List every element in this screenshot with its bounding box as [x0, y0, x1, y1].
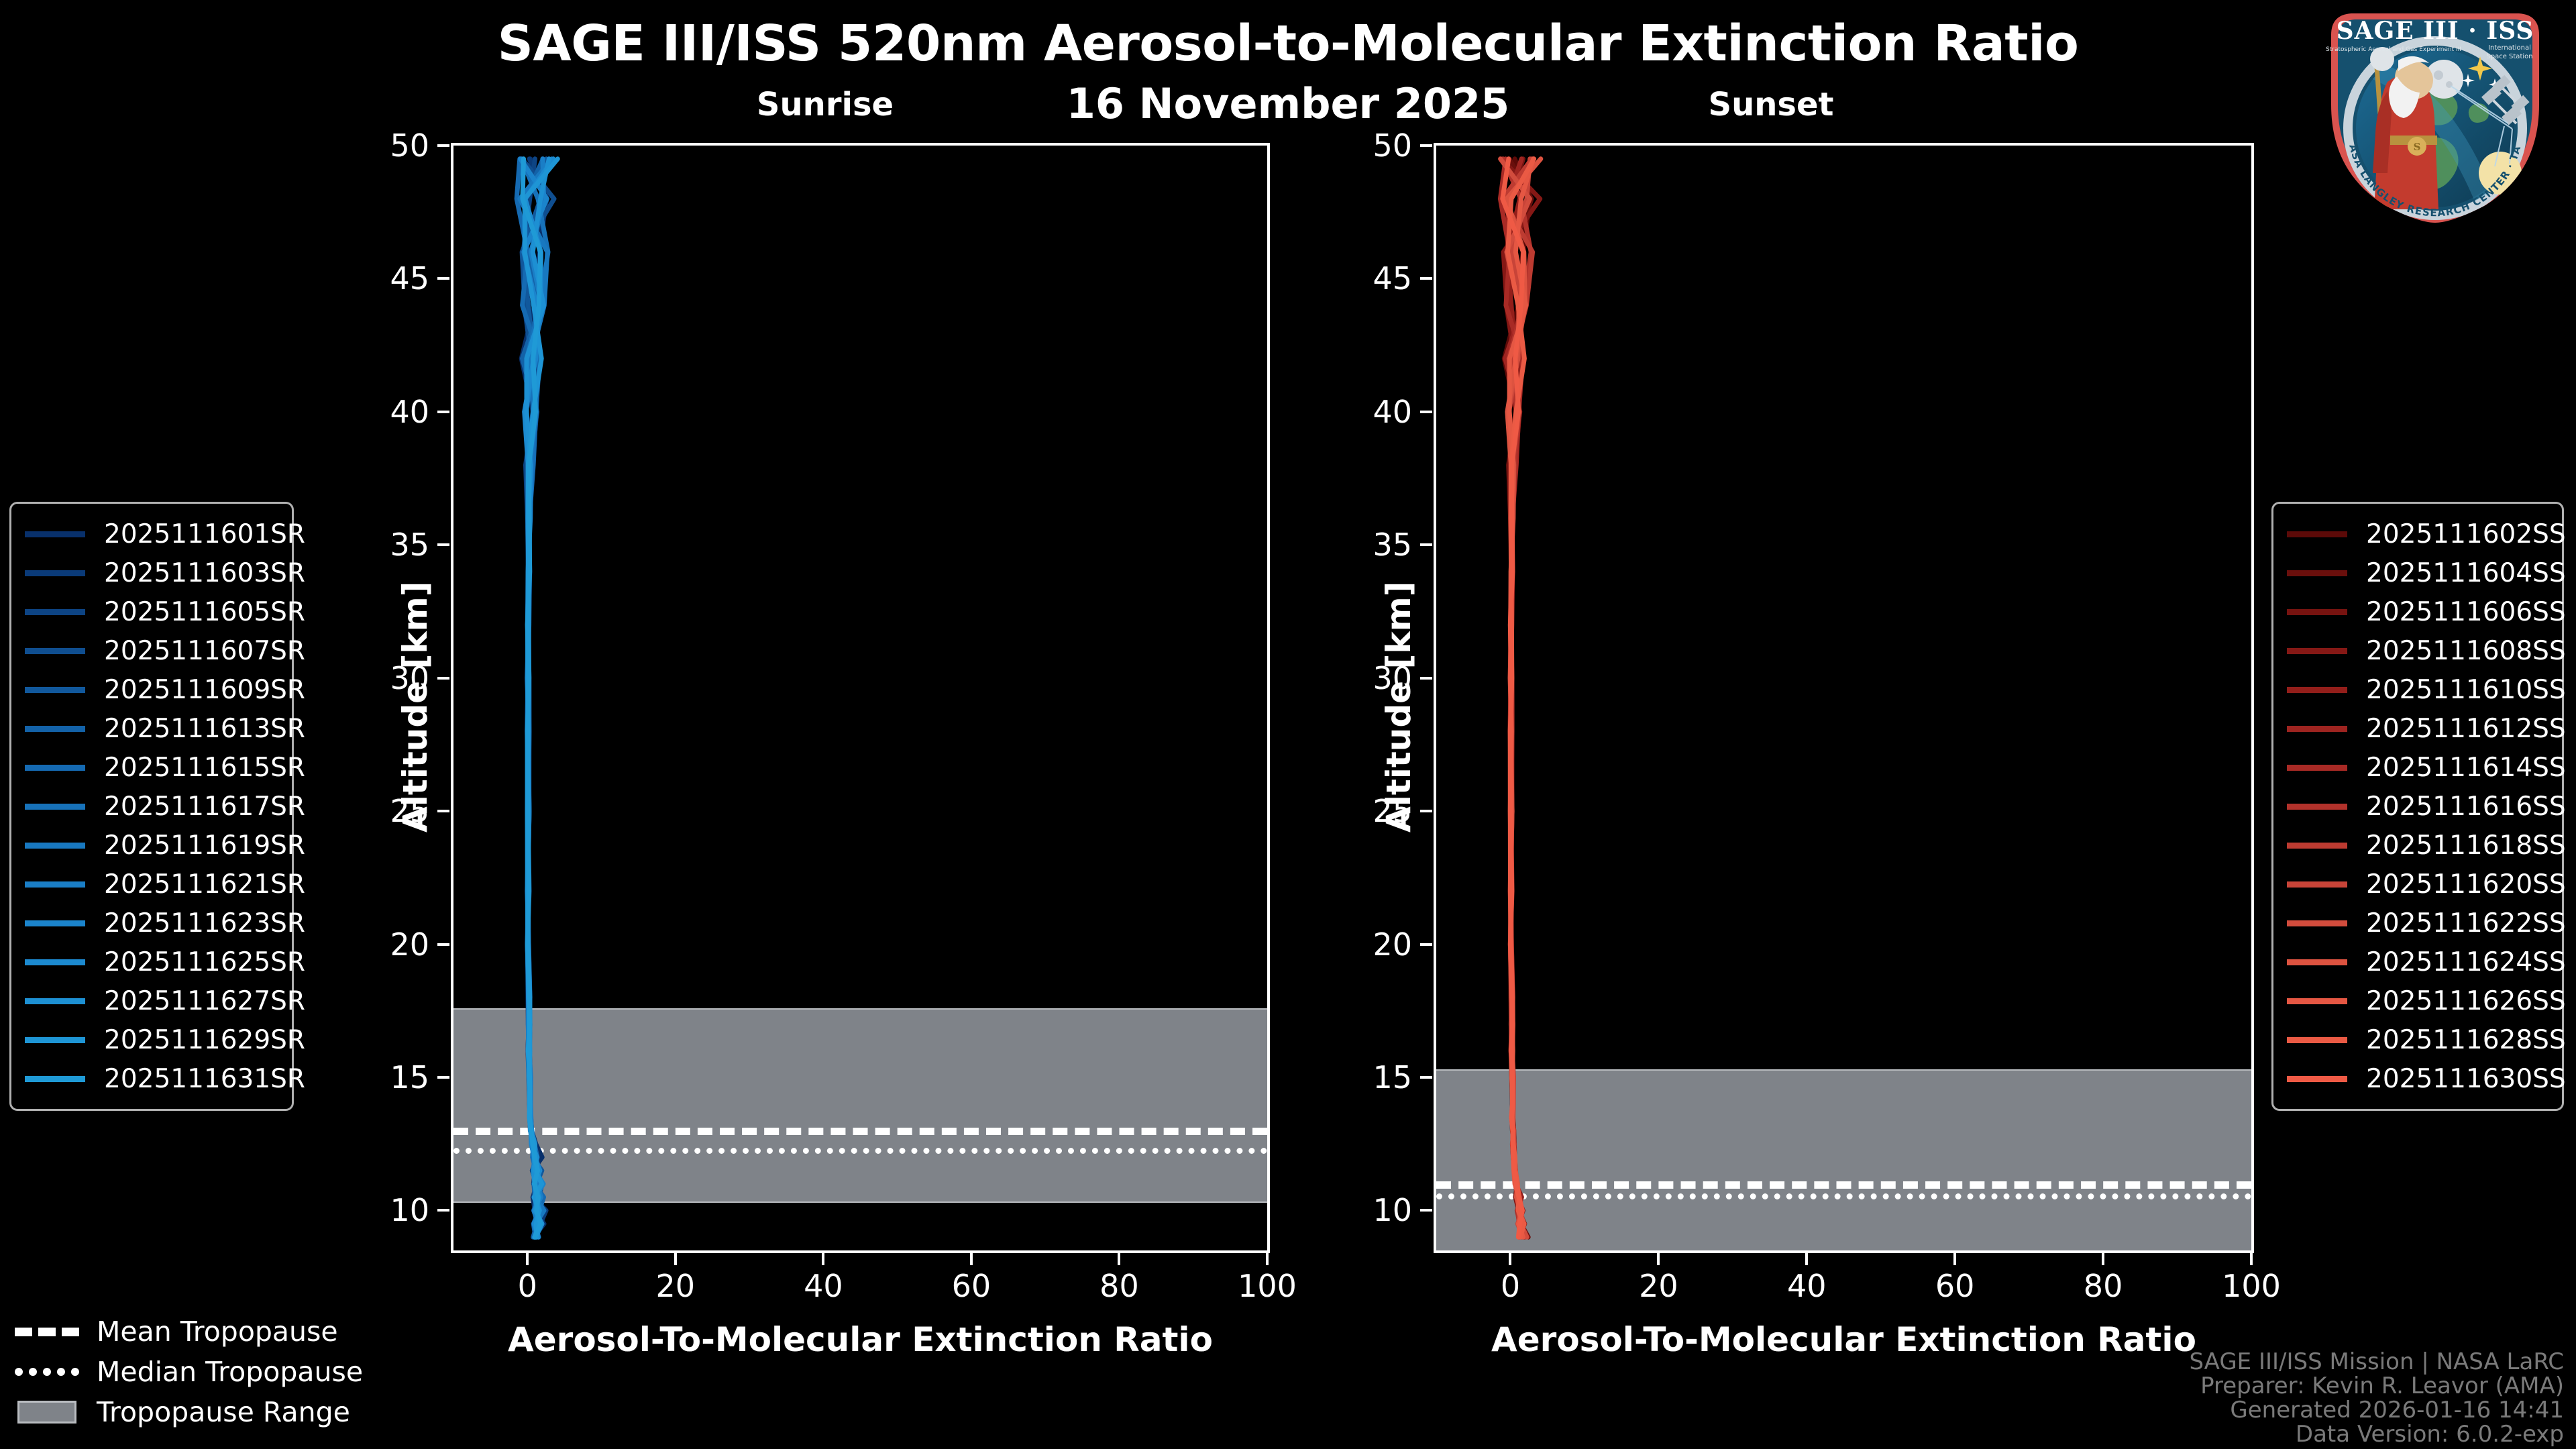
legend-item[interactable]: 2025111628SS [2287, 1020, 2550, 1059]
legend-item-label: 2025111609SR [104, 675, 305, 705]
footer-line-mission: SAGE III/ISS Mission | NASA LaRC [2189, 1350, 2564, 1374]
key-row-mean-tropopause: Mean Tropopause [12, 1311, 388, 1352]
key-row-median-tropopause: Median Tropopause [12, 1352, 388, 1392]
plot-inner-sunrise [453, 146, 1267, 1250]
legend-color-swatch [2287, 531, 2347, 537]
legend-color-swatch [2287, 843, 2347, 849]
legend-item[interactable]: 2025111631SR [25, 1059, 280, 1098]
filled-rect-icon [12, 1401, 82, 1424]
legend-item-label: 2025111622SS [2366, 908, 2566, 938]
legend-item-label: 2025111620SS [2366, 869, 2566, 900]
legend-color-swatch [2287, 998, 2347, 1004]
key-label-mean-tropopause: Mean Tropopause [97, 1316, 338, 1348]
legend-item[interactable]: 2025111607SR [25, 631, 280, 670]
legend-item[interactable]: 2025111617SR [25, 787, 280, 826]
legend-color-swatch [25, 609, 85, 615]
panel-subtitle-sunrise: Sunrise [678, 86, 973, 123]
legend-item[interactable]: 2025111605SR [25, 592, 280, 631]
x-axis-label-sunset: Aerosol-To-Molecular Extinction Ratio [1434, 1320, 2254, 1359]
legend-item[interactable]: 2025111608SS [2287, 631, 2550, 670]
legend-color-swatch [25, 1076, 85, 1082]
legend-item[interactable]: 2025111626SS [2287, 981, 2550, 1020]
legend-color-swatch [25, 804, 85, 810]
legend-item[interactable]: 2025111613SR [25, 709, 280, 748]
legend-item-label: 2025111601SR [104, 519, 305, 549]
y-tick-label: 35 [350, 527, 429, 563]
legend-color-swatch [2287, 648, 2347, 654]
y-tick-mark [1420, 677, 1432, 680]
x-tick-label: 0 [1501, 1268, 1520, 1304]
series-lines-sunset [1436, 146, 2251, 1250]
legend-item[interactable]: 2025111610SS [2287, 670, 2550, 709]
legend-item-label: 2025111626SS [2366, 986, 2566, 1016]
legend-color-swatch [2287, 570, 2347, 576]
footer-line-data-version: Data Version: 6.0.2-exp [2189, 1422, 2564, 1446]
legend-color-swatch [25, 1037, 85, 1043]
y-tick-label: 15 [1333, 1059, 1412, 1095]
y-axis-label-sunset: Altitude [km] [1379, 581, 1418, 833]
legend-color-swatch [25, 648, 85, 654]
legend-item-label: 2025111631SR [104, 1064, 305, 1094]
legend-item-label: 2025111613SR [104, 714, 305, 744]
x-tick-mark [2250, 1253, 2253, 1265]
y-tick-mark [1420, 277, 1432, 280]
y-tick-label: 10 [1333, 1192, 1412, 1228]
x-tick-label: 40 [804, 1268, 843, 1304]
page-subtitle-date: 16 November 2025 [0, 79, 2576, 128]
legend-item-label: 2025111618SS [2366, 830, 2566, 861]
legend-item-label: 2025111605SR [104, 597, 305, 627]
x-tick-label: 60 [952, 1268, 991, 1304]
legend-color-swatch [2287, 687, 2347, 693]
y-tick-mark [1420, 943, 1432, 946]
panel-subtitle-sunset: Sunset [1623, 86, 1919, 123]
x-tick-mark [674, 1253, 677, 1265]
footer-line-generated: Generated 2026-01-16 14:41 [2189, 1398, 2564, 1422]
y-tick-label: 50 [1333, 127, 1412, 164]
legend-sunset[interactable]: 2025111602SS2025111604SS2025111606SS2025… [2271, 502, 2564, 1111]
legend-color-swatch [2287, 609, 2347, 615]
legend-item-label: 2025111612SS [2366, 714, 2566, 744]
key-label-median-tropopause: Median Tropopause [97, 1356, 363, 1388]
footer-line-preparer: Preparer: Kevin R. Leavor (AMA) [2189, 1374, 2564, 1398]
y-tick-label: 15 [350, 1059, 429, 1095]
x-tick-mark [2102, 1253, 2104, 1265]
legend-item-label: 2025111610SS [2366, 675, 2566, 705]
x-tick-mark [970, 1253, 973, 1265]
y-tick-label: 45 [1333, 260, 1412, 297]
x-tick-label: 60 [1935, 1268, 1975, 1304]
legend-item[interactable]: 2025111629SR [25, 1020, 280, 1059]
x-tick-label: 0 [518, 1268, 537, 1304]
legend-color-swatch [2287, 1076, 2347, 1082]
y-tick-mark [437, 1209, 449, 1212]
svg-text:S: S [2414, 141, 2421, 153]
legend-item[interactable]: 2025111620SS [2287, 865, 2550, 904]
x-tick-label: 100 [2222, 1268, 2281, 1304]
mission-patch-icon: S SAGE III · ISS Stratospheric Aerosol a… [2318, 4, 2553, 225]
legend-color-swatch [25, 726, 85, 732]
y-tick-label: 20 [350, 926, 429, 963]
logo-subtitle-left: Stratospheric Aerosol and Gas Experiment… [2326, 46, 2461, 53]
sage-iii-iss-mission-patch-logo: S SAGE III · ISS Stratospheric Aerosol a… [2318, 4, 2553, 225]
x-tick-label: 80 [2084, 1268, 2123, 1304]
x-tick-mark [1657, 1253, 1660, 1265]
legend-item[interactable]: 2025111615SR [25, 748, 280, 787]
legend-item[interactable]: 2025111630SS [2287, 1059, 2550, 1098]
legend-item[interactable]: 2025111614SS [2287, 748, 2550, 787]
y-tick-label: 10 [350, 1192, 429, 1228]
legend-item-label: 2025111608SS [2366, 636, 2566, 666]
y-tick-label: 35 [1333, 527, 1412, 563]
y-tick-mark [437, 144, 449, 147]
legend-item[interactable]: 2025111624SS [2287, 943, 2550, 981]
legend-item-label: 2025111614SS [2366, 753, 2566, 783]
legend-color-swatch [25, 881, 85, 888]
legend-item-label: 2025111624SS [2366, 947, 2566, 977]
legend-item-label: 2025111629SR [104, 1025, 305, 1055]
legend-item-label: 2025111625SR [104, 947, 305, 977]
legend-item-label: 2025111621SR [104, 869, 305, 900]
legend-item[interactable]: 2025111618SS [2287, 826, 2550, 865]
legend-color-swatch [25, 920, 85, 926]
legend-item[interactable]: 2025111622SS [2287, 904, 2550, 943]
legend-color-swatch [2287, 726, 2347, 732]
y-tick-mark [437, 411, 449, 413]
legend-color-swatch [25, 959, 85, 965]
legend-item-label: 2025111615SR [104, 753, 305, 783]
legend-color-swatch [2287, 765, 2347, 771]
legend-item-label: 2025111619SR [104, 830, 305, 861]
x-tick-label: 20 [656, 1268, 696, 1304]
legend-item-label: 2025111630SS [2366, 1064, 2566, 1094]
x-tick-mark [1805, 1253, 1808, 1265]
x-tick-mark [1953, 1253, 1956, 1265]
x-axis-label-sunrise: Aerosol-To-Molecular Extinction Ratio [451, 1320, 1270, 1359]
key-label-tropopause-range: Tropopause Range [97, 1396, 350, 1428]
legend-item-label: 2025111602SS [2366, 519, 2566, 549]
legend-item-label: 2025111604SS [2366, 558, 2566, 588]
y-tick-mark [1420, 543, 1432, 546]
plot-inner-sunset [1436, 146, 2251, 1250]
plot-area-sunset [1434, 143, 2254, 1253]
x-tick-mark [822, 1253, 824, 1265]
x-tick-mark [1118, 1253, 1120, 1265]
y-tick-label: 20 [1333, 926, 1412, 963]
x-tick-label: 40 [1787, 1268, 1827, 1304]
legend-item-label: 2025111623SR [104, 908, 305, 938]
legend-item-label: 2025111606SS [2366, 597, 2566, 627]
legend-item-label: 2025111617SR [104, 792, 305, 822]
legend-item[interactable]: 2025111619SR [25, 826, 280, 865]
y-tick-mark [437, 677, 449, 680]
legend-item[interactable]: 2025111604SS [2287, 553, 2550, 592]
y-tick-mark [437, 277, 449, 280]
x-tick-mark [526, 1253, 529, 1265]
legend-item[interactable]: 2025111606SS [2287, 592, 2550, 631]
x-tick-label: 100 [1238, 1268, 1297, 1304]
y-tick-mark [437, 543, 449, 546]
y-tick-mark [1420, 411, 1432, 413]
legend-color-swatch [2287, 881, 2347, 888]
y-tick-mark [437, 810, 449, 812]
footer-credits: SAGE III/ISS Mission | NASA LaRC Prepare… [2189, 1350, 2564, 1446]
legend-color-swatch [25, 687, 85, 693]
series-lines-sunrise [453, 146, 1267, 1250]
legend-item[interactable]: 2025111621SR [25, 865, 280, 904]
legend-color-swatch [25, 765, 85, 771]
dashed-line-icon [12, 1328, 82, 1336]
legend-item-label: 2025111628SS [2366, 1025, 2566, 1055]
legend-color-swatch [2287, 1037, 2347, 1043]
legend-color-swatch [25, 998, 85, 1004]
legend-color-swatch [2287, 920, 2347, 926]
legend-color-swatch [25, 843, 85, 849]
legend-item[interactable]: 2025111609SR [25, 670, 280, 709]
y-tick-label: 50 [350, 127, 429, 164]
legend-item[interactable]: 2025111602SS [2287, 515, 2550, 553]
dotted-line-icon [12, 1368, 82, 1376]
legend-item-label: 2025111616SS [2366, 792, 2566, 822]
y-tick-mark [1420, 1076, 1432, 1079]
legend-item[interactable]: 2025111627SR [25, 981, 280, 1020]
y-tick-label: 45 [350, 260, 429, 297]
y-tick-mark [437, 943, 449, 946]
legend-item-label: 2025111607SR [104, 636, 305, 666]
y-tick-mark [1420, 144, 1432, 147]
legend-item-label: 2025111603SR [104, 558, 305, 588]
legend-item[interactable]: 2025111616SS [2287, 787, 2550, 826]
legend-item[interactable]: 2025111601SR [25, 515, 280, 553]
key-row-tropopause-range: Tropopause Range [12, 1392, 388, 1432]
page-title: SAGE III/ISS 520nm Aerosol-to-Molecular … [0, 15, 2576, 72]
y-tick-mark [1420, 810, 1432, 812]
x-tick-label: 80 [1099, 1268, 1139, 1304]
x-tick-label: 20 [1639, 1268, 1678, 1304]
legend-item[interactable]: 2025111625SR [25, 943, 280, 981]
y-tick-label: 40 [1333, 394, 1412, 430]
legend-color-swatch [2287, 804, 2347, 810]
logo-subtitle-right-2: Space Station [2486, 53, 2532, 60]
legend-item[interactable]: 2025111623SR [25, 904, 280, 943]
legend-item[interactable]: 2025111603SR [25, 553, 280, 592]
y-axis-label-sunrise: Altitude [km] [396, 581, 435, 833]
x-tick-mark [1266, 1253, 1269, 1265]
legend-color-swatch [25, 531, 85, 537]
legend-item[interactable]: 2025111612SS [2287, 709, 2550, 748]
y-tick-mark [437, 1076, 449, 1079]
legend-color-swatch [2287, 959, 2347, 965]
plot-area-sunrise [451, 143, 1270, 1253]
x-tick-mark [1509, 1253, 1511, 1265]
legend-item-label: 2025111627SR [104, 986, 305, 1016]
y-tick-label: 40 [350, 394, 429, 430]
tropopause-key: Mean Tropopause Median Tropopause Tropop… [12, 1311, 388, 1432]
y-tick-mark [1420, 1209, 1432, 1212]
legend-color-swatch [25, 570, 85, 576]
logo-title: SAGE III · ISS [2337, 17, 2534, 45]
logo-subtitle-right-1: International [2488, 44, 2531, 52]
legend-sunrise[interactable]: 2025111601SR2025111603SR2025111605SR2025… [9, 502, 294, 1111]
